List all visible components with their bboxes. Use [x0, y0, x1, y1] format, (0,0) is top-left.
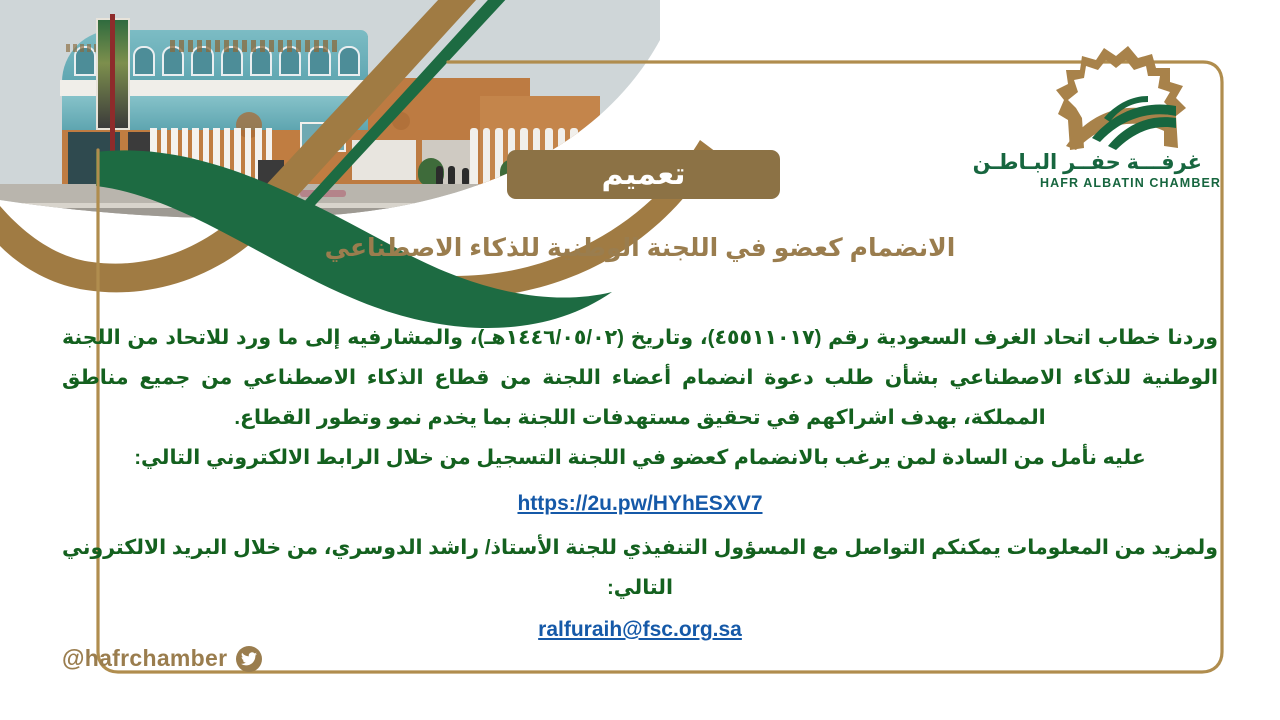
announcement-body: وردنا خطاب اتحاد الغرف السعودية رقم (٤٥٥… [62, 318, 1218, 654]
body-paragraph-2: عليه نأمل من السادة لمن يرغب بالانضمام ك… [62, 438, 1218, 478]
announcement-page: غرفـــة حفــر البـاطـن HAFR ALBATIN CHAM… [0, 0, 1280, 720]
registration-link[interactable]: https://2u.pw/HYhESXV7 [62, 484, 1218, 524]
twitter-icon[interactable] [236, 646, 262, 672]
page-title: الانضمام كعضو في اللجنة الوطنية للذكاء ا… [170, 232, 1110, 265]
body-paragraph-1: وردنا خطاب اتحاد الغرف السعودية رقم (٤٥٥… [62, 318, 1218, 438]
twitter-handle[interactable]: @hafrchamber [62, 645, 262, 672]
body-paragraph-3: ولمزيد من المعلومات يمكنكم التواصل مع ال… [62, 528, 1218, 608]
chamber-logo: غرفـــة حفــر البـاطـن HAFR ALBATIN CHAM… [1040, 42, 1202, 202]
logo-english-name: HAFR ALBATIN CHAMBER [1040, 176, 1202, 190]
circular-banner-label: تعميم [601, 160, 685, 190]
twitter-handle-text[interactable]: @hafrchamber [62, 645, 227, 672]
contact-email-link[interactable]: ralfuraih@fsc.org.sa [62, 610, 1218, 650]
logo-arabic-name: غرفـــة حفــر البـاطـن [1040, 150, 1202, 175]
chamber-logo-mark [1052, 42, 1192, 152]
circular-banner: تعميم [507, 150, 780, 199]
